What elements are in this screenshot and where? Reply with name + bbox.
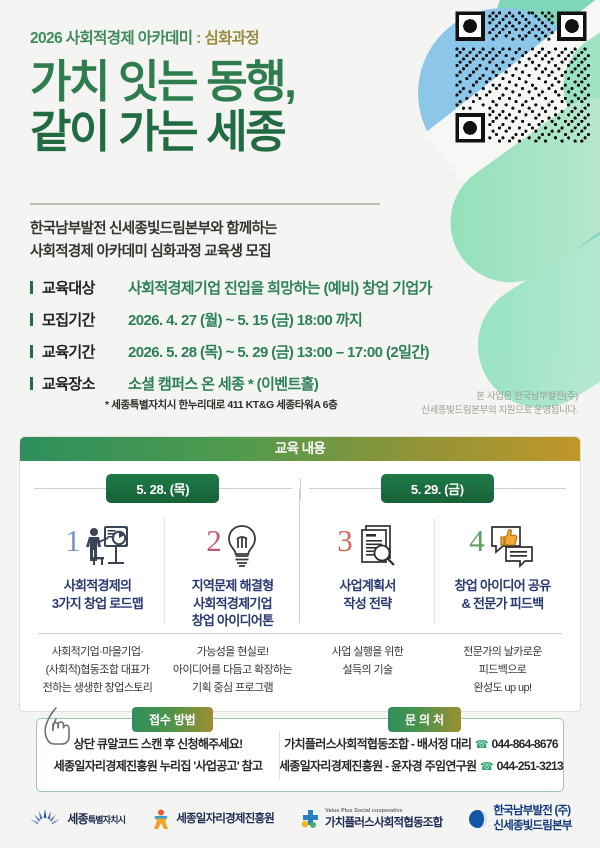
logo-sejong-city: 세종특별자치시	[28, 808, 125, 830]
curriculum-title: 사업계획서 작성 전략	[306, 577, 429, 631]
info-value: 사회적경제기업 진입을 희망하는 (예비) 창업 기업가	[128, 277, 432, 298]
curriculum-title-text: 지역문제 해결형 사회적경제기업 창업 아이디어톤	[192, 578, 274, 628]
curriculum-icon-row: 1	[36, 515, 159, 577]
sejong-city-mark-icon	[28, 808, 62, 830]
info-row-course-period: 교육기간 2026. 5. 28 (목) ~ 5. 29 (금) 13:00 –…	[30, 341, 480, 362]
lightbulb-icon	[225, 523, 259, 569]
curriculum-card: 교육 내용 5. 28. (목) 5. 29. (금)	[20, 437, 580, 711]
logo-label: 세종특별자치시	[67, 812, 125, 827]
inquiry-org-1: 가치플러스사회적협동조합 - 배서정 대리	[284, 737, 471, 751]
thumbs-up-chat-icon	[488, 523, 536, 569]
kospo-mark-icon	[468, 809, 488, 829]
curriculum-title-text: 창업 아이디어 공유 & 전문가 피드백	[455, 578, 551, 611]
apply-method-tag: 접수 방법	[132, 707, 213, 732]
info-row-target: 교육대상 사회적경제기업 진입을 희망하는 (예비) 창업 기업가	[30, 277, 480, 298]
qr-code-icon	[452, 8, 590, 146]
phone-icon: ☎	[480, 761, 493, 773]
logo-main-text: 세종	[67, 812, 87, 826]
poster-header: 2026 사회적경제 아카데미 : 심화과정 가치 잇는 동행, 같이 가는 세…	[30, 26, 430, 158]
logo-kospo: 한국남부발전 (주)신세종빛드림본부	[468, 804, 571, 834]
logo-strip: 세종특별자치시 세종일자리경제진흥원 Value Plus Social coo…	[0, 804, 600, 834]
logo-label: Value Plus Social cooperative가치플러스사회적협동조…	[325, 808, 442, 830]
logo-main-text: 한국남부발전 (주)	[493, 805, 570, 817]
sponsor-note-line-1: 본 사업은 한국남부발전(주)	[421, 390, 578, 404]
curriculum-desc-1: 사회적기업·마을기업· (사회적)협동조합 대표가 전하는 생생한 창업스토리	[30, 644, 165, 697]
jobs-agency-mark-icon	[151, 808, 171, 830]
step-number: 2	[206, 525, 222, 556]
curriculum-body: 5. 28. (목) 5. 29. (금) 1	[20, 461, 580, 711]
kicker-year: 2026	[30, 30, 66, 47]
curriculum-icon-row: 4	[441, 515, 564, 577]
curriculum-icon-row: 3	[306, 515, 429, 577]
lead-paragraph: 한국남부발전 신세종빛드림본부와 함께하는 사회적경제 아카데미 심화과정 교육…	[30, 218, 277, 264]
page-title: 가치 잇는 동행, 같이 가는 세종	[30, 57, 430, 158]
curriculum-title: 사회적경제의 3가지 창업 로드맵	[36, 577, 159, 631]
gachi-plus-mark-icon	[300, 808, 320, 830]
inquiry-phone-2[interactable]: 044-251-3213	[497, 759, 563, 773]
day-rule-left	[309, 488, 381, 489]
info-label: 교육장소	[42, 373, 120, 394]
lead-line-2: 사회적경제 아카데미 심화과정 교육생 모집	[30, 241, 277, 264]
curriculum-desc-2: 가능성을 현실로! 아이디어를 다듬고 확장하는 기획 중심 프로그램	[165, 644, 300, 697]
info-label: 교육기간	[42, 341, 120, 362]
curriculum-item-3: 3	[300, 515, 435, 631]
step-number: 1	[65, 525, 81, 556]
apply-line-2: 세종일자리경제진흥원 누리집 '사업공고' 참고	[37, 755, 279, 777]
pointing-hand-icon	[36, 702, 84, 750]
phone-icon: ☎	[475, 739, 488, 751]
inquiry-phone-1[interactable]: 044-864-8676	[491, 737, 557, 751]
info-row-application-period: 모집기간 2026. 4. 27 (월) ~ 5. 15 (금) 18:00 까…	[30, 309, 480, 330]
curriculum-heading: 교육 내용	[20, 437, 580, 461]
logo-sejong-jobs-agency: 세종일자리경제진흥원	[151, 808, 274, 830]
day-2-pill: 5. 29. (금)	[381, 474, 494, 503]
info-list: 교육대상 사회적경제기업 진입을 희망하는 (예비) 창업 기업가 모집기간 2…	[30, 277, 480, 405]
logo-sub-text: 특별자치시	[88, 815, 125, 825]
curriculum-item-4: 4	[435, 515, 570, 631]
step-number: 4	[469, 525, 485, 556]
day-rule-left	[34, 488, 106, 489]
day-1-group: 5. 28. (목)	[34, 474, 292, 503]
inquiry-column: 가치플러스사회적협동조합 - 배서정 대리 ☎ 044-864-8676 세종일…	[279, 733, 563, 778]
bullet-bar-icon	[30, 313, 33, 326]
day-1-pill: 5. 28. (목)	[106, 474, 219, 503]
logo-gachi-plus-coop: Value Plus Social cooperative가치플러스사회적협동조…	[300, 808, 442, 830]
day-rule-right	[494, 488, 566, 489]
info-value: 소셜 캠퍼스 온 세종 * (이벤트홀)	[128, 373, 318, 394]
poster-root: 2026 사회적경제 아카데미 : 심화과정 가치 잇는 동행, 같이 가는 세…	[0, 0, 600, 848]
logo-main-text: 가치플러스사회적협동조합	[325, 817, 442, 829]
sponsor-note: 본 사업은 한국남부발전(주) 신세종빛드림본부의 지원으로 운영됩니다.	[421, 390, 578, 419]
curriculum-title-text: 사회적경제의 3가지 창업 로드맵	[52, 578, 143, 611]
inquiry-tag: 문 의 처	[388, 707, 461, 732]
curriculum-item-2: 2 지역문제 해결형 사회적경제기업 창업 아이디	[165, 515, 300, 631]
logo-tagline: Value Plus Social cooperative	[325, 808, 442, 815]
logo-label: 세종일자리경제진흥원	[176, 812, 274, 826]
title-line-1: 가치 잇는 동행,	[30, 56, 294, 107]
venue-footnote: * 세종특별자치시 한누리대로 411 KT&G 세종타워A 6층	[105, 397, 337, 412]
info-value: 2026. 4. 27 (월) ~ 5. 15 (금) 18:00 까지	[128, 309, 362, 330]
header-divider	[30, 203, 380, 205]
day-rule-right	[219, 488, 291, 489]
info-row-venue: 교육장소 소셜 캠퍼스 온 세종 * (이벤트홀)	[30, 373, 480, 394]
bullet-bar-icon	[30, 377, 33, 390]
sponsor-note-line-2: 신세종빛드림본부의 지원으로 운영됩니다.	[421, 404, 578, 418]
curriculum-desc-3: 사업 실행을 위한 설득의 기술	[300, 644, 435, 697]
step-number: 3	[337, 525, 353, 556]
presentation-chart-icon	[84, 524, 130, 568]
day-header-bar: 5. 28. (목) 5. 29. (금)	[30, 474, 570, 503]
inquiry-org-2: 세종일자리경제진흥원 - 윤자경 주임연구원	[279, 759, 476, 773]
curriculum-desc-4: 전문가의 날카로운 피드백으로 완성도 up up!	[435, 644, 570, 697]
document-magnifier-icon	[356, 523, 398, 569]
bullet-bar-icon	[30, 345, 33, 358]
curriculum-descriptions: 사회적기업·마을기업· (사회적)협동조합 대표가 전하는 생생한 창업스토리 …	[30, 644, 570, 697]
qr-code[interactable]	[452, 8, 590, 146]
lead-line-1: 한국남부발전 신세종빛드림본부와 함께하는	[30, 218, 277, 241]
description-divider	[38, 633, 562, 634]
curriculum-title-text: 사업계획서 작성 전략	[339, 578, 395, 611]
day-2-group: 5. 29. (금)	[309, 474, 567, 503]
inquiry-line-1: 가치플러스사회적협동조합 - 배서정 대리 ☎ 044-864-8676	[279, 733, 563, 755]
curriculum-columns: 1	[30, 515, 570, 631]
info-label: 교육대상	[42, 277, 120, 298]
curriculum-item-1: 1	[30, 515, 165, 631]
logo-label: 한국남부발전 (주)신세종빛드림본부	[493, 804, 571, 834]
kicker-sub: 심화과정	[204, 30, 259, 47]
bullet-bar-icon	[30, 281, 33, 294]
info-value: 2026. 5. 28 (목) ~ 5. 29 (금) 13:00 – 17:0…	[128, 341, 429, 362]
inquiry-line-2: 세종일자리경제진흥원 - 윤자경 주임연구원 ☎ 044-251-3213	[279, 755, 563, 777]
kicker-separator: :	[192, 30, 204, 47]
kicker-main: 사회적경제 아카데미	[66, 30, 193, 47]
info-label: 모집기간	[42, 309, 120, 330]
curriculum-icon-row: 2	[171, 515, 294, 577]
curriculum-title: 창업 아이디어 공유 & 전문가 피드백	[441, 577, 564, 631]
title-line-2: 같이 가는 세종	[30, 107, 430, 157]
curriculum-title: 지역문제 해결형 사회적경제기업 창업 아이디어톤	[171, 577, 294, 631]
program-kicker: 2026 사회적경제 아카데미 : 심화과정	[30, 26, 430, 48]
contact-band: 상단 큐알코드 스캔 후 신청해주세요! 세종일자리경제진흥원 누리집 '사업공…	[36, 718, 564, 792]
logo-sub-text: 신세종빛드림본부	[493, 820, 571, 832]
